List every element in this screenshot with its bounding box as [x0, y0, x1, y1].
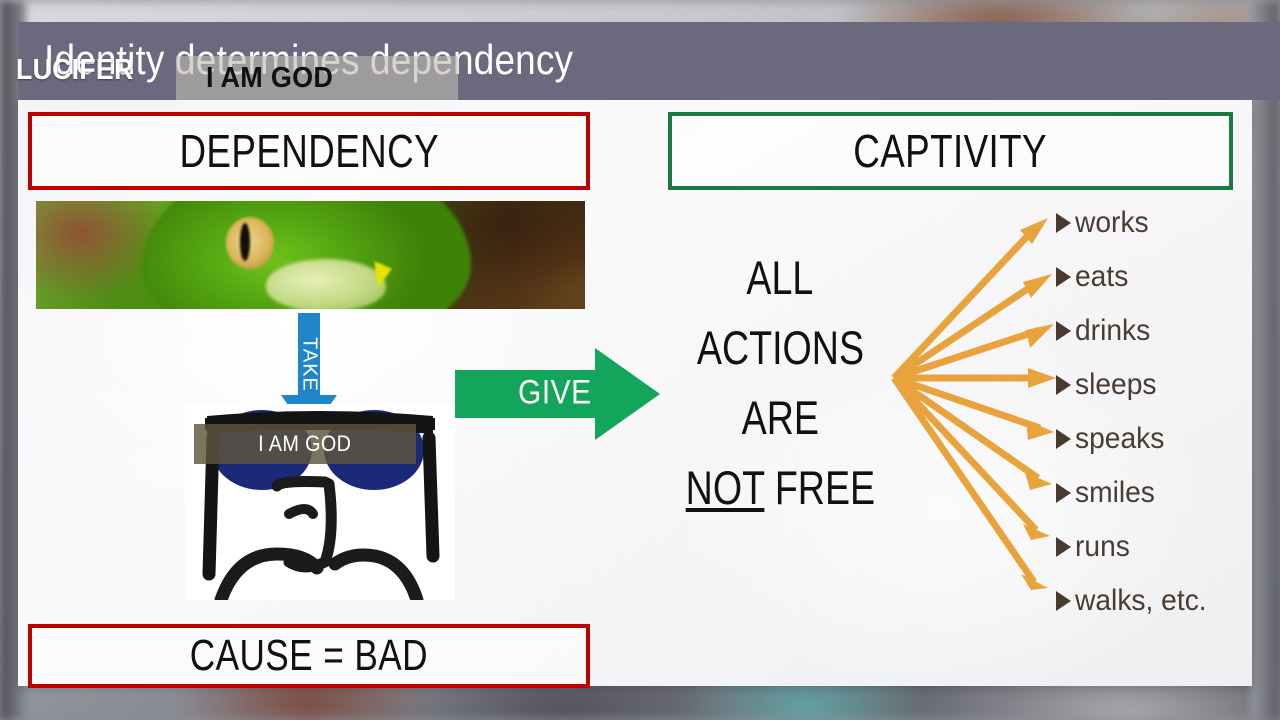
- statement-line-3: ARE: [660, 383, 900, 453]
- snake-snout-shape: [266, 259, 386, 309]
- snake-photo: [36, 201, 585, 309]
- snake-claim-label: I AM GOD: [206, 62, 333, 95]
- take-arrow-label: TAKE: [298, 337, 321, 392]
- snake-pupil-shape: [240, 223, 250, 261]
- statement-line-2: ACTIONS: [660, 313, 900, 383]
- statement-emphasis: NOT: [685, 461, 764, 514]
- list-item: walks, etc.: [1056, 574, 1236, 628]
- action-arrow-fan: [880, 190, 1080, 600]
- list-item-label: runs: [1075, 530, 1130, 564]
- snake-claim-box: I AM GOD: [176, 56, 458, 100]
- list-item: sleeps: [1056, 358, 1236, 412]
- list-item: speaks: [1056, 412, 1236, 466]
- action-arrow-fan-shape: [880, 190, 1080, 600]
- list-item-label: sleeps: [1075, 368, 1157, 402]
- lucifer-label: LUCIFER: [16, 54, 134, 87]
- triangle-bullet-icon: [1056, 267, 1071, 287]
- list-item-label: eats: [1075, 260, 1128, 294]
- statement-line-1: ALL: [660, 243, 900, 313]
- give-arrow-label: GIVE: [513, 374, 597, 413]
- list-item: eats: [1056, 250, 1236, 304]
- list-item: works: [1056, 196, 1236, 250]
- person-claim-label: I AM GOD: [258, 431, 351, 457]
- triangle-bullet-icon: [1056, 321, 1071, 341]
- statement-block: ALL ACTIONS ARE NOT FREE: [660, 243, 900, 523]
- triangle-bullet-icon: [1056, 429, 1071, 449]
- slide-canvas: Identity determines dependency DEPENDENC…: [0, 0, 1280, 720]
- triangle-bullet-icon: [1056, 537, 1071, 557]
- triangle-bullet-icon: [1056, 213, 1071, 233]
- dependency-header-box: DEPENDENCY: [28, 112, 590, 190]
- list-item-label: drinks: [1075, 314, 1150, 348]
- list-item-label: speaks: [1075, 422, 1164, 456]
- person-claim-box: I AM GOD: [194, 424, 416, 464]
- statement-line-4: NOT FREE: [660, 453, 900, 523]
- list-item-label: walks, etc.: [1075, 584, 1207, 618]
- list-item: smiles: [1056, 466, 1236, 520]
- list-item: runs: [1056, 520, 1236, 574]
- captivity-header-box: CAPTIVITY: [668, 112, 1233, 190]
- snake-eye-shape: [226, 217, 274, 269]
- background-right-edge: [1250, 0, 1280, 720]
- cause-footer-box: CAUSE = BAD: [28, 624, 590, 688]
- captivity-header-label: CAPTIVITY: [854, 124, 1048, 178]
- triangle-bullet-icon: [1056, 591, 1071, 611]
- triangle-bullet-icon: [1056, 375, 1071, 395]
- statement-emphasis-tail: FREE: [764, 461, 875, 514]
- triangle-bullet-icon: [1056, 483, 1071, 503]
- action-list: works eats drinks sleeps speaks smiles r…: [1056, 196, 1236, 628]
- give-arrow: GIVE: [455, 348, 660, 440]
- cause-footer-label: CAUSE = BAD: [190, 631, 428, 681]
- list-item: drinks: [1056, 304, 1236, 358]
- list-item-label: works: [1075, 206, 1149, 240]
- list-item-label: smiles: [1075, 476, 1155, 510]
- dependency-header-label: DEPENDENCY: [179, 124, 439, 178]
